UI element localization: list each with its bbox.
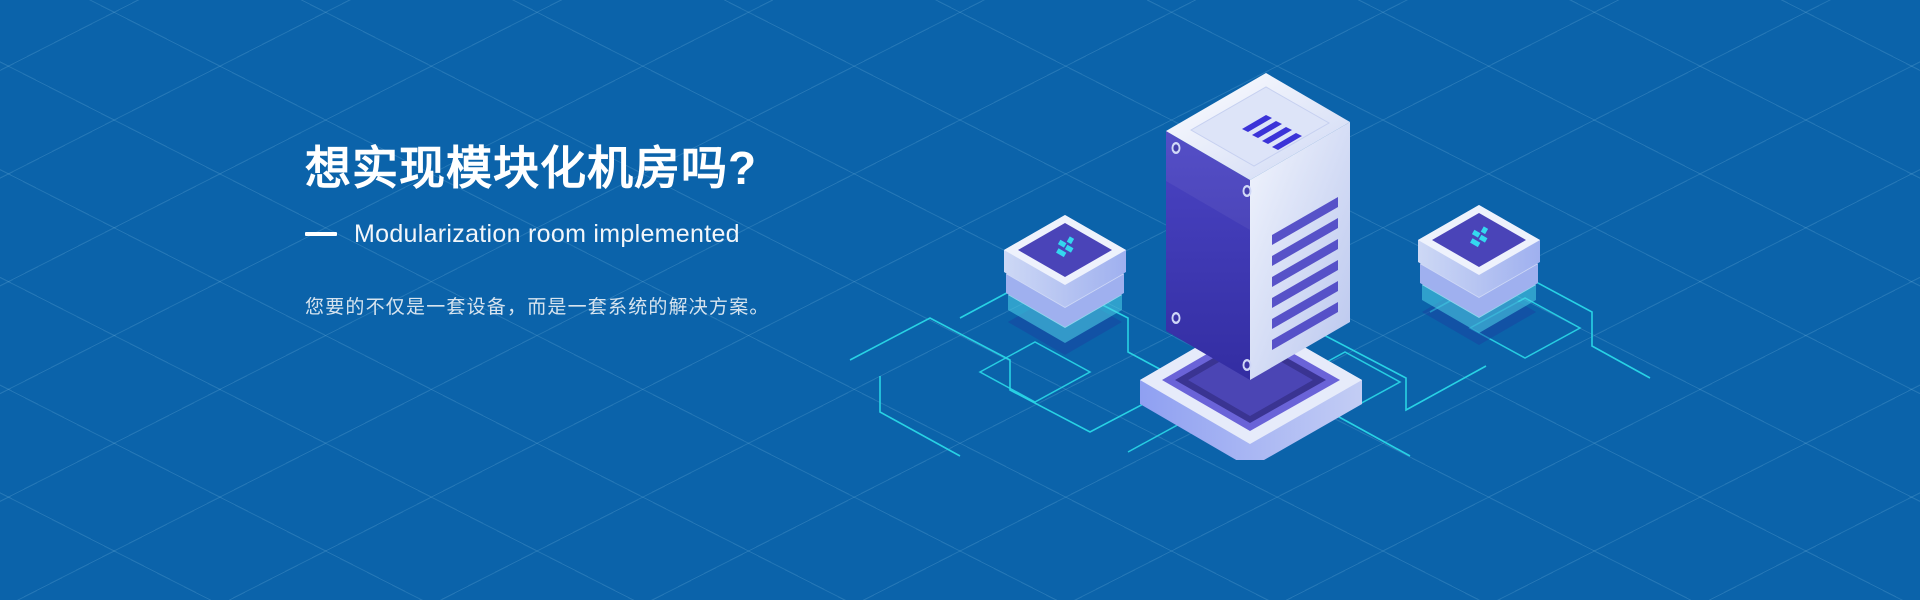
hero-banner: 想实现模块化机房吗? Modularization room implement…: [0, 0, 1920, 600]
dash-icon: [305, 232, 337, 236]
subtitle: Modularization room implemented: [354, 220, 740, 249]
server-tower-icon: [1140, 73, 1362, 460]
isometric-server-illustration: [810, 60, 1660, 460]
